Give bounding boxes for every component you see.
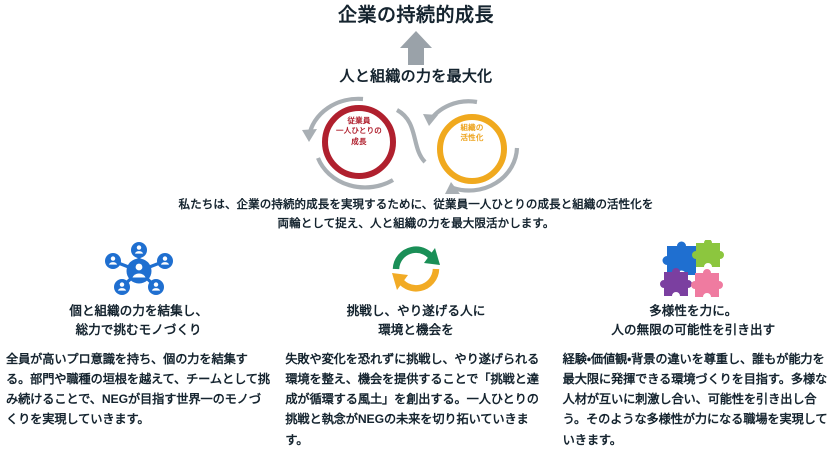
column-body: 経験・価値観・背景の違いを尊重し、誰もが能力を最大限に発揮できる環境づくりを目指… [557, 349, 830, 450]
column-icon-container [100, 240, 178, 298]
page-subtitle: 人と組織の力を最大化 [0, 69, 832, 86]
column-heading: 個と組織の力を結集し、 総力で挑むモノづくり [69, 302, 208, 340]
lead-paragraph: 私たちは、企業の持続的成長を実現するために、従業員一人ひとりの成長と組織の活性化… [0, 196, 832, 233]
people-network-icon [100, 241, 178, 297]
value-columns: 個と組織の力を結集し、 総力で挑むモノづくり 全員が高いプロ意識を持ち、個の力を… [0, 240, 832, 450]
puzzle-piece-green [692, 240, 724, 267]
column-heading: 多様性を力に。 人の無限の可能性を引き出す [611, 302, 775, 340]
column-body: 失敗や変化を恐れずに挑戦し、やり遂げられる環境を整え、機会を提供することで「挑戦… [277, 349, 554, 450]
diagram-page: 企業の持続的成長 人と組織の力を最大化 [0, 0, 832, 446]
puzzle-pieces-icon [655, 240, 731, 298]
right-circle-label: 組織の 活性化 [439, 123, 505, 144]
lead-line-2: 両輪として捉え、人と組織の力を最大限活かします。 [0, 215, 832, 234]
refresh-cycle-icon [388, 243, 444, 295]
value-column-challenge: 挑戦し、やり遂げる人に 環境と機会を 失敗や変化を恐れずに挑戦し、やり遂げられる… [277, 240, 554, 450]
arrow-up-icon [399, 30, 433, 66]
loop-arrowhead-left [302, 129, 317, 142]
value-column-diversity: 多様性を力に。 人の無限の可能性を引き出す 経験・価値観・背景の違いを尊重し、誰… [555, 240, 832, 450]
left-circle-label: 従業員 一人ひとりの 成長 [326, 116, 392, 147]
puzzle-piece-pink [691, 269, 723, 297]
column-icon-container [655, 240, 731, 298]
column-icon-container [388, 240, 444, 298]
column-heading: 挑戦し、やり遂げる人に 環境と機会を [347, 302, 486, 340]
cycle-diagram: 従業員 一人ひとりの 成長 組織の 活性化 [0, 96, 832, 196]
loop-arrowhead-mid [423, 114, 438, 126]
arrow-up-container [0, 27, 832, 69]
value-column-teamwork: 個と組織の力を結集し、 総力で挑むモノづくり 全員が高いプロ意識を持ち、個の力を… [0, 240, 277, 450]
lead-line-1: 私たちは、企業の持続的成長を実現するために、従業員一人ひとりの成長と組織の活性化… [0, 196, 832, 215]
column-body: 全員が高いプロ意識を持ち、個の力を結集する。部門や職種の垣根を越えて、チームとし… [2, 349, 275, 430]
puzzle-piece-purple [660, 268, 692, 296]
header-block: 企業の持続的成長 人と組織の力を最大化 [0, 0, 832, 85]
page-title: 企業の持続的成長 [0, 6, 832, 27]
